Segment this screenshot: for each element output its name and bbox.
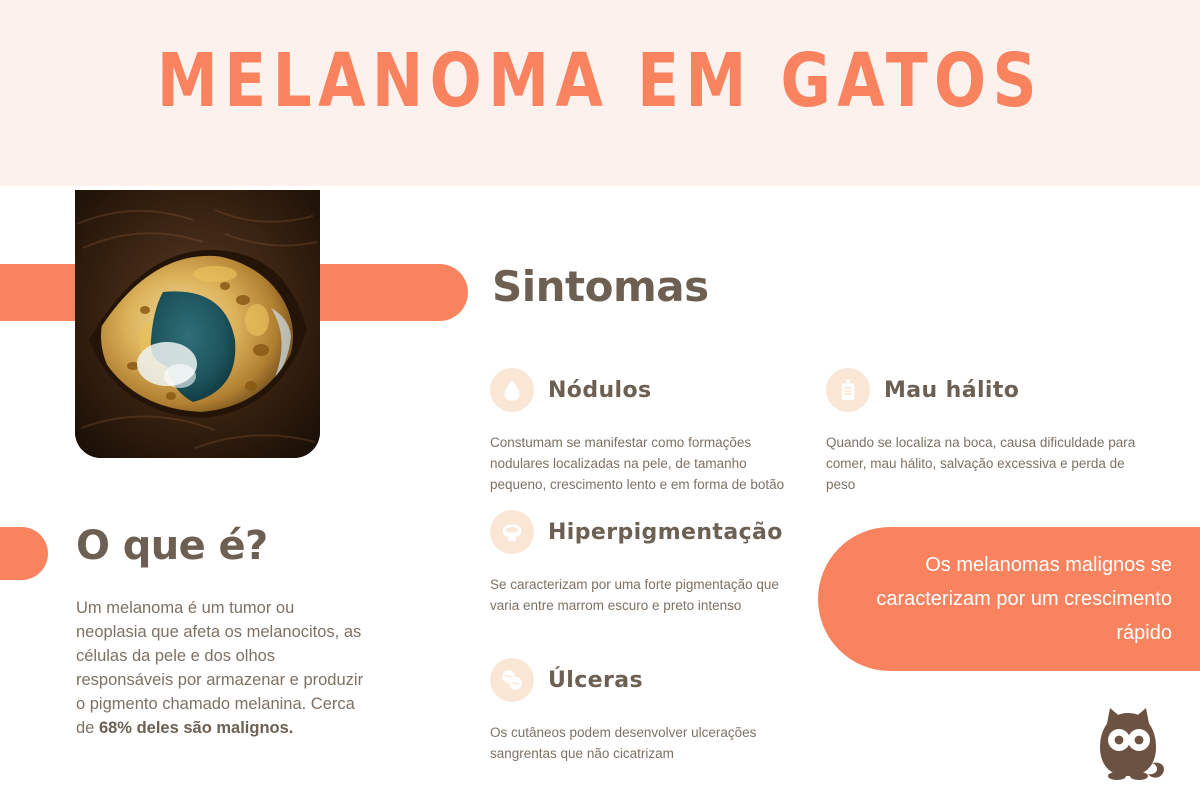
symptom-title: Mau hálito: [884, 378, 1019, 403]
symptom-title: Nódulos: [548, 378, 652, 403]
droplet-icon: [490, 368, 534, 412]
toothpaste-tube-icon: [826, 368, 870, 412]
symptom-item-mau-halito: Mau hálito Quando se localiza na boca, c…: [826, 366, 1146, 495]
symptom-header: Úlceras: [490, 656, 802, 704]
what-is-bold-tail: deles são malignos.: [137, 719, 294, 737]
symptom-header: Hiperpigmentação: [490, 508, 802, 556]
lamp-icon: [490, 510, 534, 554]
symptom-header: Mau hálito: [826, 366, 1146, 414]
what-is-body: Um melanoma é um tumor ou neoplasia que …: [76, 596, 364, 740]
symptom-description: Os cutâneos podem desenvolver ulcerações…: [490, 722, 802, 764]
symptoms-heading: Sintomas: [492, 262, 709, 311]
symptom-item-hiperpigmentacao: Hiperpigmentação Se caracterizam por uma…: [490, 508, 802, 616]
coral-accent-pill: [0, 527, 48, 580]
symptom-title: Hiperpigmentação: [548, 520, 783, 545]
symptom-item-nodulos: Nódulos Constumam se manifestar como for…: [490, 366, 802, 495]
symptom-title: Úlceras: [548, 668, 643, 693]
callout-text: Os melanomas malignos se caracterizam po…: [872, 548, 1172, 650]
cat-eye-photo: [75, 190, 320, 458]
page-title: MELANOMA EM GATOS: [48, 44, 1152, 118]
symptom-description: Se caracterizam por uma forte pigmentaçã…: [490, 574, 802, 616]
callout-box: Os melanomas malignos se caracterizam po…: [818, 527, 1200, 671]
two-pills-icon: [490, 658, 534, 702]
what-is-heading: O que é?: [76, 524, 268, 568]
symptom-description: Constumam se manifestar como formações n…: [490, 432, 802, 495]
cat-logo: [1086, 703, 1170, 785]
what-is-body-part-1: Um melanoma é um tumor ou neoplasia que …: [76, 599, 363, 737]
symptom-item-ulceras: Úlceras Os cutâneos podem desenvolver ul…: [490, 656, 802, 764]
infographic-page: MELANOMA EM GATOS: [0, 0, 1200, 800]
symptom-description: Quando se localiza na boca, causa dificu…: [826, 432, 1146, 495]
what-is-percent: 68%: [99, 719, 132, 737]
symptom-header: Nódulos: [490, 366, 802, 414]
